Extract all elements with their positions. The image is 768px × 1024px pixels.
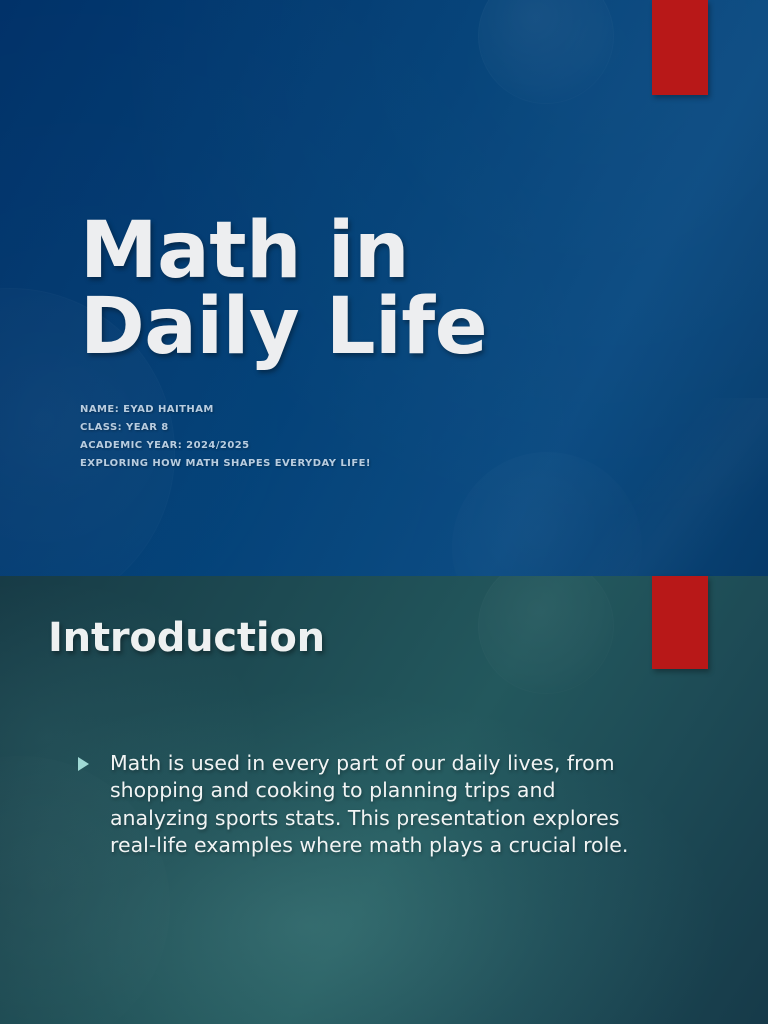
subtitle-line-class: CLASS: YEAR 8	[80, 423, 580, 433]
page-title: Math in Daily Life	[80, 214, 640, 365]
accent-bar-red-middle	[652, 576, 708, 669]
list-item: Math is used in every part of our daily …	[76, 750, 648, 859]
triangle-bullet-icon	[78, 757, 89, 771]
subtitle-block: NAME: EYAD HAITHAM CLASS: YEAR 8 ACADEMI…	[80, 405, 580, 469]
decorative-circle-icon	[452, 452, 642, 576]
decorative-circle-icon	[478, 576, 614, 694]
subtitle-line-academic-year: ACADEMIC YEAR: 2024/2025	[80, 441, 580, 451]
accent-bar-red-top	[652, 0, 708, 95]
section-heading-introduction: Introduction	[48, 618, 325, 658]
decorative-circle-icon	[478, 0, 614, 104]
introduction-bullet-list: Math is used in every part of our daily …	[76, 750, 648, 859]
title-block: Math in Daily Life	[80, 214, 640, 365]
list-item-text: Math is used in every part of our daily …	[110, 751, 628, 857]
slide-title[interactable]: Math in Daily Life NAME: EYAD HAITHAM CL…	[0, 0, 768, 576]
presentation-deck: Math in Daily Life NAME: EYAD HAITHAM CL…	[0, 0, 768, 1024]
subtitle-line-name: NAME: EYAD HAITHAM	[80, 405, 580, 415]
subtitle-line-tagline: EXPLORING HOW MATH SHAPES EVERYDAY LIFE!	[80, 459, 580, 469]
